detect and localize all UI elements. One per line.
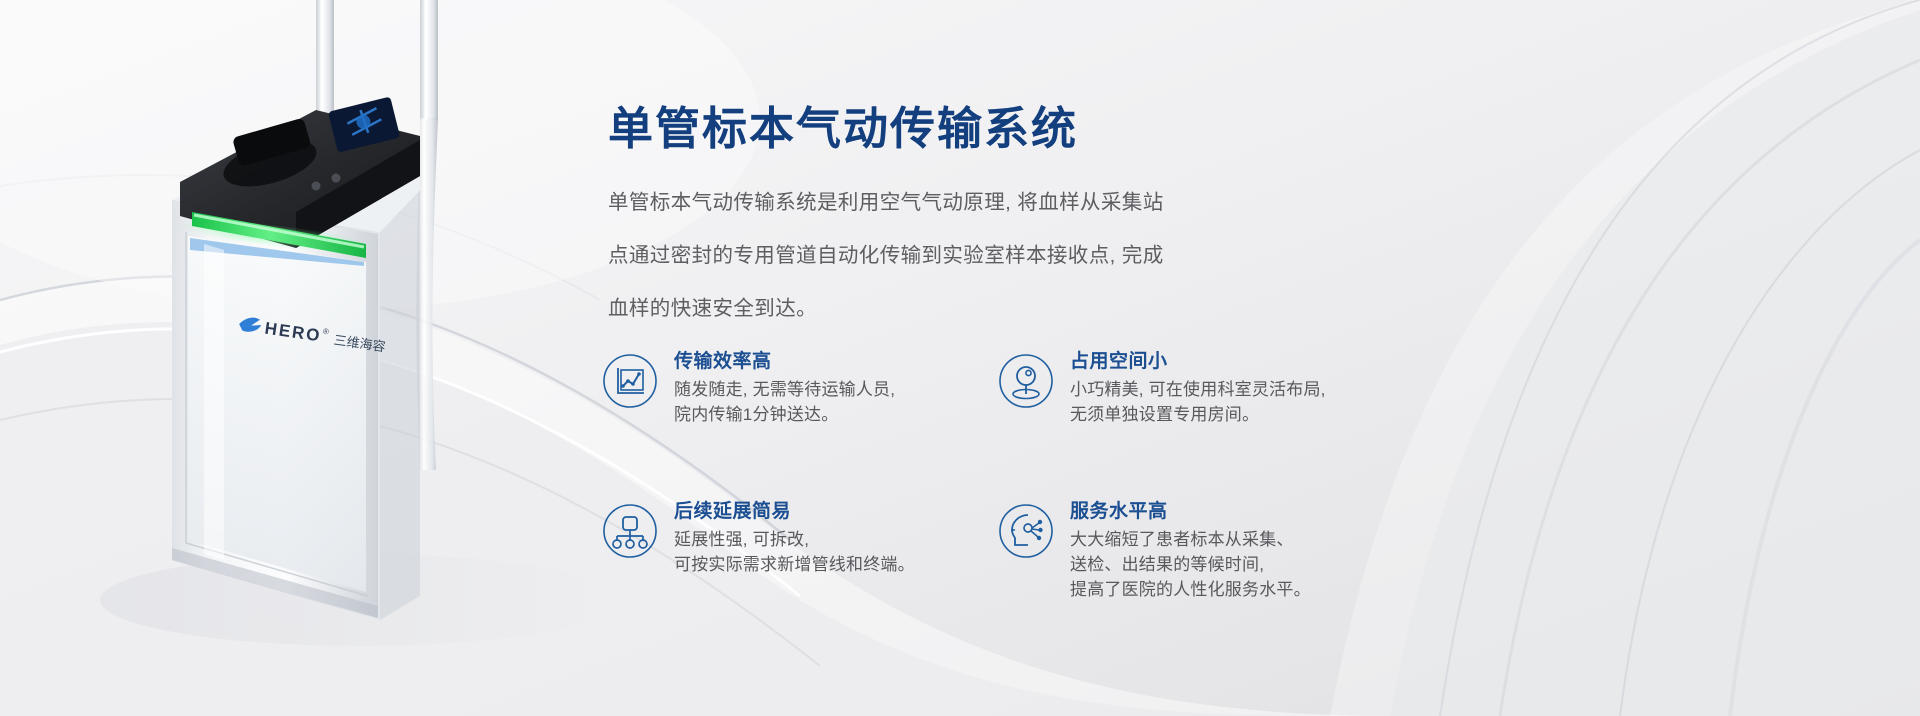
feature-title: 占用空间小 [1070,349,1326,375]
feature-title: 后续延展简易 [674,499,915,525]
feature-description: 大大缩短了患者标本从采集、 送检、出结果的等候时间, 提高了医院的人性化服务水平… [1070,527,1311,602]
line-chart-icon [602,353,658,409]
feature-title: 传输效率高 [674,349,895,375]
feature-description-line: 无须单独设置专用房间。 [1070,402,1326,427]
feature-description-line: 延展性强, 可拆改, [674,527,915,552]
feature-description: 小巧精美, 可在使用科室灵活布局, 无须单独设置专用房间。 [1070,377,1326,427]
feature-description-line: 大大缩短了患者标本从采集、 [1070,527,1311,552]
feature-title: 服务水平高 [1070,499,1311,525]
feature-item-easy-expansion: 后续延展简易 延展性强, 可拆改, 可按实际需求新增管线和终端。 [602,495,932,602]
feature-description-line: 小巧精美, 可在使用科室灵活布局, [1070,377,1326,402]
banner-content: 单管标本气动传输系统 单管标本气动传输系统是利用空气气动原理, 将血样从采集站 … [602,0,1920,716]
feature-description: 随发随走, 无需等待运输人员, 院内传输1分钟送达。 [674,377,895,427]
product-illustration: HERO ® 三维海容 [120,0,680,716]
feature-description-line: 送检、出结果的等候时间, [1070,552,1311,577]
product-image: HERO ® 三维海容 [120,0,680,716]
feature-description-line: 院内传输1分钟送达。 [674,402,895,427]
page-title: 单管标本气动传输系统 [608,92,1078,157]
feature-item-service-level: 服务水平高 大大缩短了患者标本从采集、 送检、出结果的等候时间, 提高了医院的人… [998,495,1328,602]
description-line-2: 点通过密封的专用管道自动化传输到实验室样本接收点, 完成 [608,229,1268,282]
feature-description-line: 可按实际需求新增管线和终端。 [674,552,915,577]
location-pin-icon [998,353,1054,409]
description-line-3: 血样的快速安全到达。 [608,282,1268,335]
feature-item-transmission-efficiency: 传输效率高 随发随走, 无需等待运输人员, 院内传输1分钟送达。 [602,345,932,450]
smart-head-icon [998,503,1054,559]
feature-description: 延展性强, 可拆改, 可按实际需求新增管线和终端。 [674,527,915,577]
feature-description-line: 随发随走, 无需等待运输人员, [674,377,895,402]
description-line-1: 单管标本气动传输系统是利用空气气动原理, 将血样从采集站 [608,176,1268,229]
feature-item-space-saving: 占用空间小 小巧精美, 可在使用科室灵活布局, 无须单独设置专用房间。 [998,345,1328,450]
feature-list: 传输效率高 随发随走, 无需等待运输人员, 院内传输1分钟送达。 [602,345,1302,602]
product-banner: HERO ® 三维海容 单管标本气动传输系统 单管标本气动传输系统是利用空气气动… [0,0,1920,716]
feature-description-line: 提高了医院的人性化服务水平。 [1070,577,1311,602]
network-tree-icon [602,503,658,559]
product-description: 单管标本气动传输系统是利用空气气动原理, 将血样从采集站 点通过密封的专用管道自… [608,176,1268,335]
